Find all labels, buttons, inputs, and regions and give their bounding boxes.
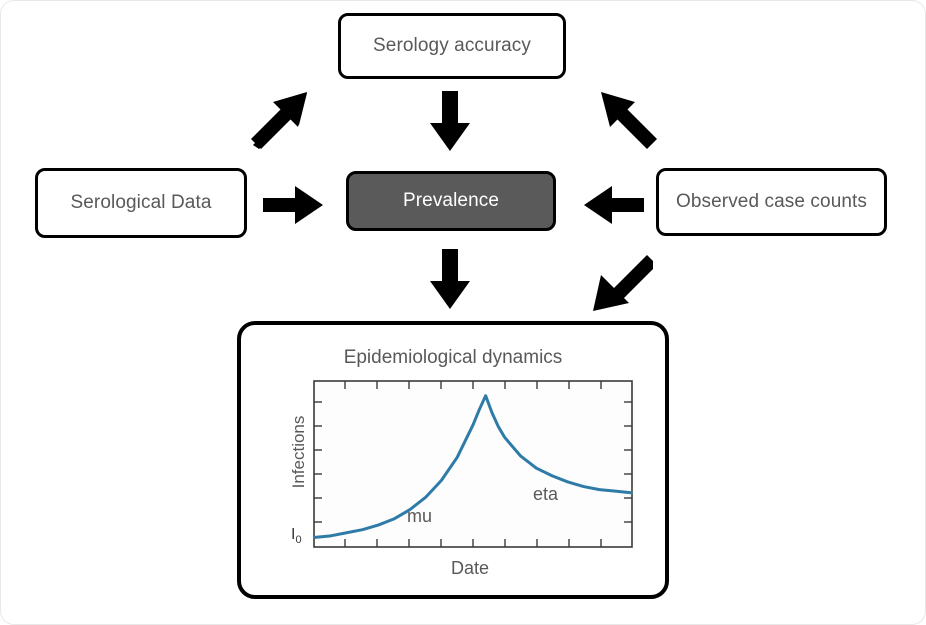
node-observed-case-counts[interactable]: Observed case counts — [656, 168, 887, 236]
diagram-canvas: Serology accuracy Serological Data Preva… — [0, 0, 926, 625]
panel-epidemiological-dynamics[interactable]: Epidemiological dynamics Infections I0 — [237, 321, 669, 599]
arrow-left-icon — [582, 185, 644, 225]
arrow-right-icon — [263, 185, 325, 225]
arrow-up-left-icon — [595, 89, 661, 151]
node-serology-accuracy-label: Serology accuracy — [373, 35, 531, 57]
arrow-down-left-icon — [589, 253, 653, 315]
arrow-down-icon — [429, 91, 471, 153]
node-prevalence-label: Prevalence — [403, 190, 499, 212]
chart-epidemiological-dynamics: Infections I0 — [265, 380, 649, 580]
panel-title: Epidemiological dynamics — [241, 347, 665, 369]
chart-annotation-eta: eta — [533, 484, 558, 505]
chart-y-tick-label: I0 — [291, 526, 302, 546]
node-observed-case-counts-label: Observed case counts — [676, 191, 867, 213]
node-serology-accuracy[interactable]: Serology accuracy — [338, 13, 566, 79]
node-prevalence[interactable]: Prevalence — [346, 171, 556, 231]
node-serological-data-label: Serological Data — [70, 192, 211, 214]
arrow-down-icon — [429, 249, 471, 311]
chart-y-axis-label: Infections — [289, 392, 309, 512]
chart-x-axis-label: Date — [305, 558, 635, 579]
chart-annotation-mu: mu — [407, 506, 432, 527]
chart-plot-area — [313, 380, 633, 548]
arrow-up-right-icon — [247, 89, 313, 151]
node-serological-data[interactable]: Serological Data — [35, 168, 247, 238]
